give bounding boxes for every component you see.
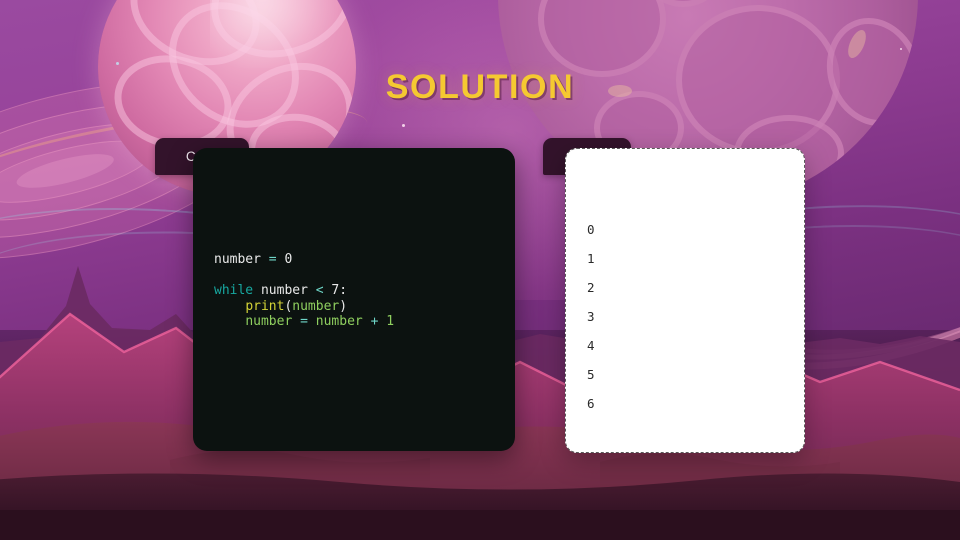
output-console-panel[interactable]: 0 1 2 3 4 5 6 — [565, 148, 805, 453]
code-editor-panel[interactable]: number = 0 while number < 7: print(numbe… — [193, 148, 515, 451]
star-icon — [402, 124, 405, 127]
slide-canvas: SOLUTION Code Output number = 0 while nu… — [0, 0, 960, 540]
page-title: SOLUTION — [0, 68, 960, 107]
star-icon — [900, 48, 902, 50]
star-icon — [116, 62, 119, 65]
code-block: number = 0 while number < 7: print(numbe… — [214, 252, 394, 330]
output-text: 0 1 2 3 4 5 6 — [587, 215, 595, 418]
